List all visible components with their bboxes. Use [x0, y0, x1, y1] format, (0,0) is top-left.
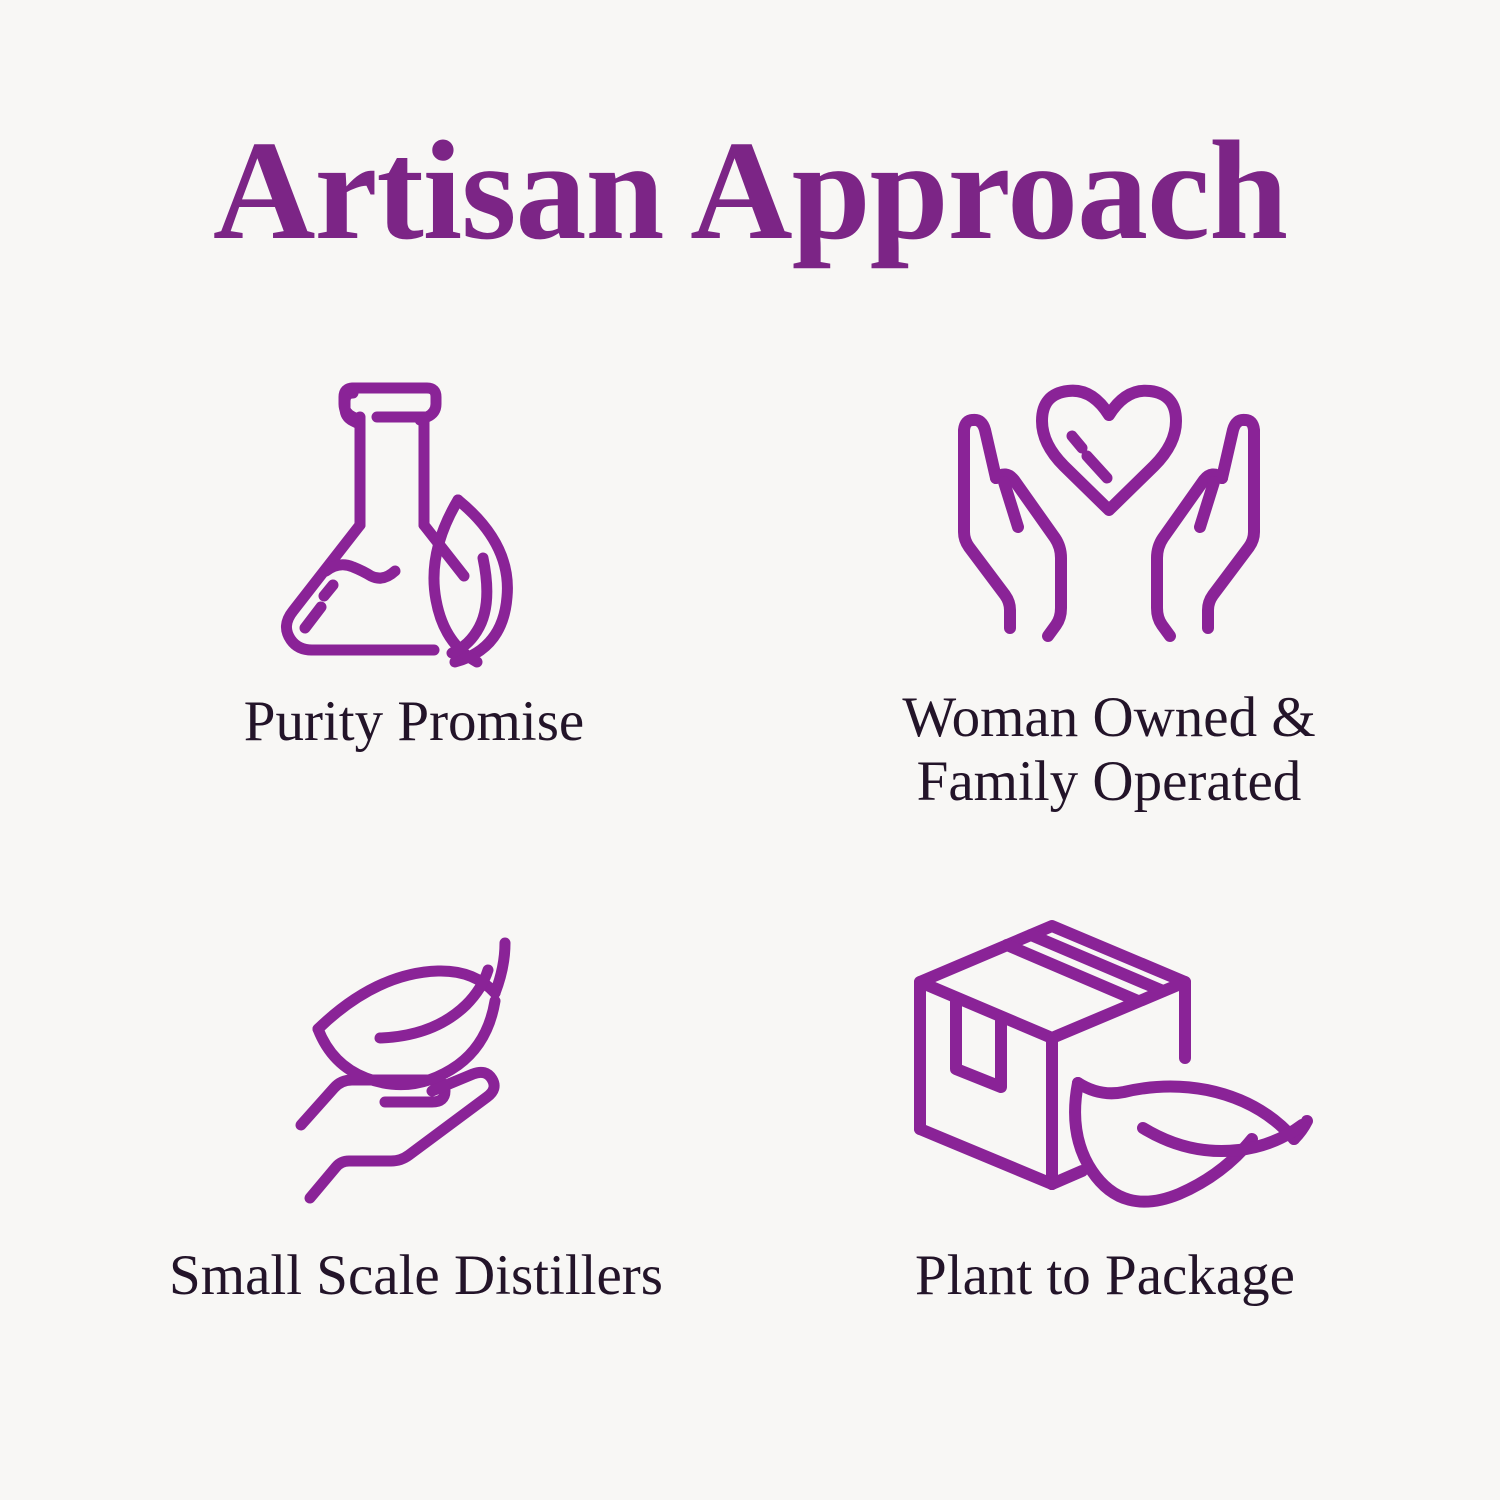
- package-box-leaf-icon: [900, 908, 1310, 1208]
- feature-item-small-scale-distillers: Small Scale Distillers: [60, 908, 750, 1378]
- feature-label: Woman Owned & Family Operated: [902, 686, 1315, 814]
- hands-holding-heart-icon: [944, 368, 1274, 660]
- feature-label: Small Scale Distillers: [169, 1244, 663, 1308]
- page-title-container: Artisan Approach: [0, 116, 1500, 265]
- feature-grid: Purity Promise: [60, 368, 1440, 1378]
- artisan-approach-panel: Artisan Approach: [0, 0, 1500, 1500]
- flask-leaf-icon: [279, 368, 549, 668]
- feature-label: Purity Promise: [244, 690, 584, 754]
- page-title: Artisan Approach: [0, 116, 1500, 265]
- feature-label: Plant to Package: [915, 1244, 1295, 1308]
- feature-item-plant-to-package: Plant to Package: [750, 908, 1440, 1378]
- feature-item-woman-owned: Woman Owned & Family Operated: [750, 368, 1440, 838]
- feature-item-purity-promise: Purity Promise: [60, 368, 750, 838]
- leaf-in-open-hand-icon: [296, 908, 536, 1208]
